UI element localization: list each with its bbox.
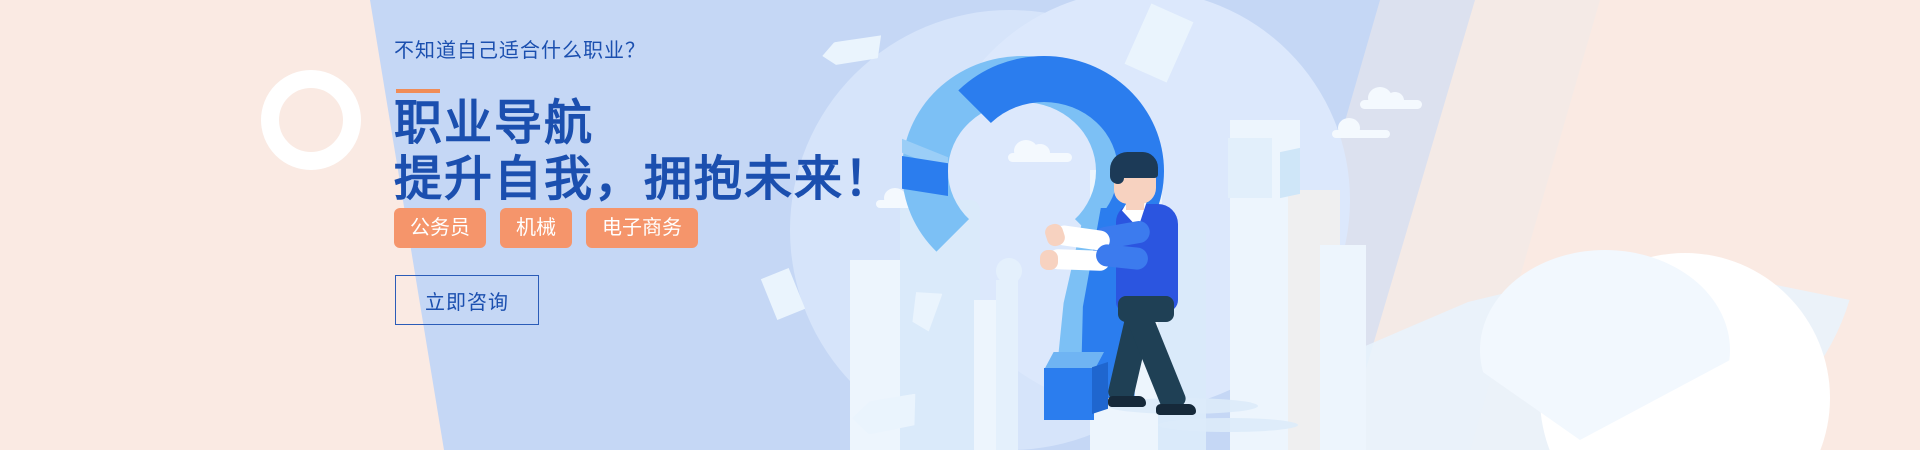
headline-line-1: 职业导航 (394, 96, 1014, 152)
person-hips (1118, 296, 1174, 322)
consult-now-button[interactable]: 立即咨询 (395, 275, 539, 325)
orange-divider (396, 89, 440, 93)
person-hair-side (1110, 164, 1124, 184)
tag-list: 公务员 机械 电子商务 (394, 208, 698, 248)
page-title: 职业导航 提升自我，拥抱未来！ (394, 96, 1014, 208)
banner-copy: 不知道自己适合什么职业？ 职业导航 提升自我，拥抱未来！ 公务员 机械 电子商务… (394, 0, 1094, 450)
person-shoe (1108, 396, 1146, 407)
tag-item[interactable]: 电子商务 (586, 208, 698, 248)
cloud-icon (1360, 87, 1422, 109)
headline-line-2: 提升自我，拥抱未来！ (394, 152, 1014, 208)
decorative-ring-icon (261, 70, 361, 170)
banner-eyebrow: 不知道自己适合什么职业？ (394, 34, 646, 63)
hero-banner: 不知道自己适合什么职业？ 职业导航 提升自我，拥抱未来！ 公务员 机械 电子商务… (0, 0, 1920, 450)
tag-item[interactable]: 机械 (500, 208, 572, 248)
tag-item[interactable]: 公务员 (394, 208, 486, 248)
person-shoe (1156, 404, 1196, 415)
